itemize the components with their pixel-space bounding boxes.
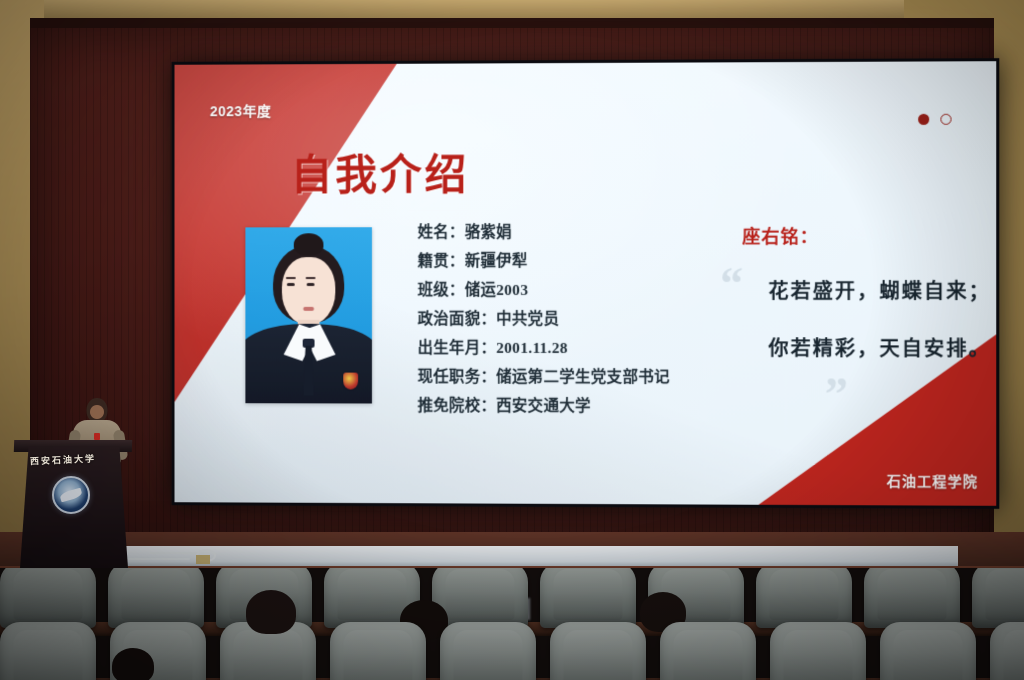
info-row-name: 姓名：骆紫娟 (418, 225, 670, 241)
photo-eye-right (307, 283, 315, 286)
seat[interactable] (0, 622, 96, 680)
seat[interactable] (540, 568, 636, 628)
auditorium-scene: 2023年度 自我介绍 (0, 0, 1024, 680)
seat[interactable] (880, 622, 976, 680)
info-row-political: 政治面貌：中共党员 (418, 312, 670, 328)
projection-screen: 2023年度 自我介绍 (172, 58, 1000, 509)
photo-eyebrow-right (306, 277, 316, 279)
id-photo-container (245, 227, 372, 472)
slide-title: 自我介绍 (291, 141, 469, 202)
motto-line-1: 花若盛开，蝴蝶自来； (768, 275, 991, 304)
photo-eye-left (287, 283, 295, 286)
audience-seating (0, 568, 1024, 680)
seat[interactable] (756, 568, 852, 628)
audience-head (246, 590, 296, 634)
info-row-position: 现任职务：储运第二学生党支部书记 (418, 370, 670, 386)
info-row-school: 推免院校：西安交通大学 (418, 399, 670, 415)
speaker-face (90, 405, 104, 419)
seat[interactable] (330, 622, 426, 680)
audience-head (112, 648, 154, 680)
motto-line-2: 你若精彩，天自安排。 (768, 332, 991, 361)
info-row-hometown: 籍贯：新疆伊犁 (418, 254, 670, 270)
year-tag: 2023年度 (210, 101, 271, 121)
quote-close-icon: ” (825, 371, 848, 417)
presentation-slide: 2023年度 自我介绍 (175, 61, 997, 506)
quote-open-icon: “ (720, 261, 743, 307)
motto-heading: 座右铭： (742, 223, 991, 249)
seat[interactable] (0, 568, 96, 628)
pagination-dot-hollow-icon[interactable] (940, 114, 951, 125)
slide-body: 姓名：骆紫娟 籍贯：新疆伊犁 班级：储运2003 政治面貌：中共党员 出生年月：… (175, 222, 997, 474)
speaker-badge-icon (94, 433, 100, 440)
seat[interactable] (864, 568, 960, 628)
info-row-birthdate: 出生年月：2001.11.28 (418, 341, 670, 357)
seat[interactable] (770, 622, 866, 680)
photo-school-badge-icon (343, 373, 358, 390)
pagination-dot-filled-icon[interactable] (918, 114, 929, 125)
photo-hair-bun (294, 233, 324, 255)
seat[interactable] (972, 568, 1024, 628)
photo-eyebrow-left (286, 277, 296, 279)
seat[interactable] (108, 568, 204, 628)
seat[interactable] (550, 622, 646, 680)
stage-cable-box (196, 555, 210, 564)
motto-section: 座右铭： “ 花若盛开，蝴蝶自来； 你若精彩，天自安排。 ” (728, 223, 991, 475)
stage-cable-1 (120, 558, 190, 560)
seat[interactable] (990, 622, 1024, 680)
photo-mouth (303, 307, 314, 311)
college-tag: 石油工程学院 (887, 471, 978, 491)
seat-row-back (0, 568, 1024, 628)
seat[interactable] (660, 622, 756, 680)
seat[interactable] (440, 622, 536, 680)
university-emblem-icon (52, 476, 90, 514)
photo-face (282, 257, 335, 325)
id-photo (245, 227, 372, 403)
pagination-dots (918, 114, 951, 125)
info-row-class: 班级：储运2003 (418, 283, 670, 299)
personal-info-list: 姓名：骆紫娟 籍贯：新疆伊犁 班级：储运2003 政治面貌：中共党员 出生年月：… (418, 223, 670, 473)
